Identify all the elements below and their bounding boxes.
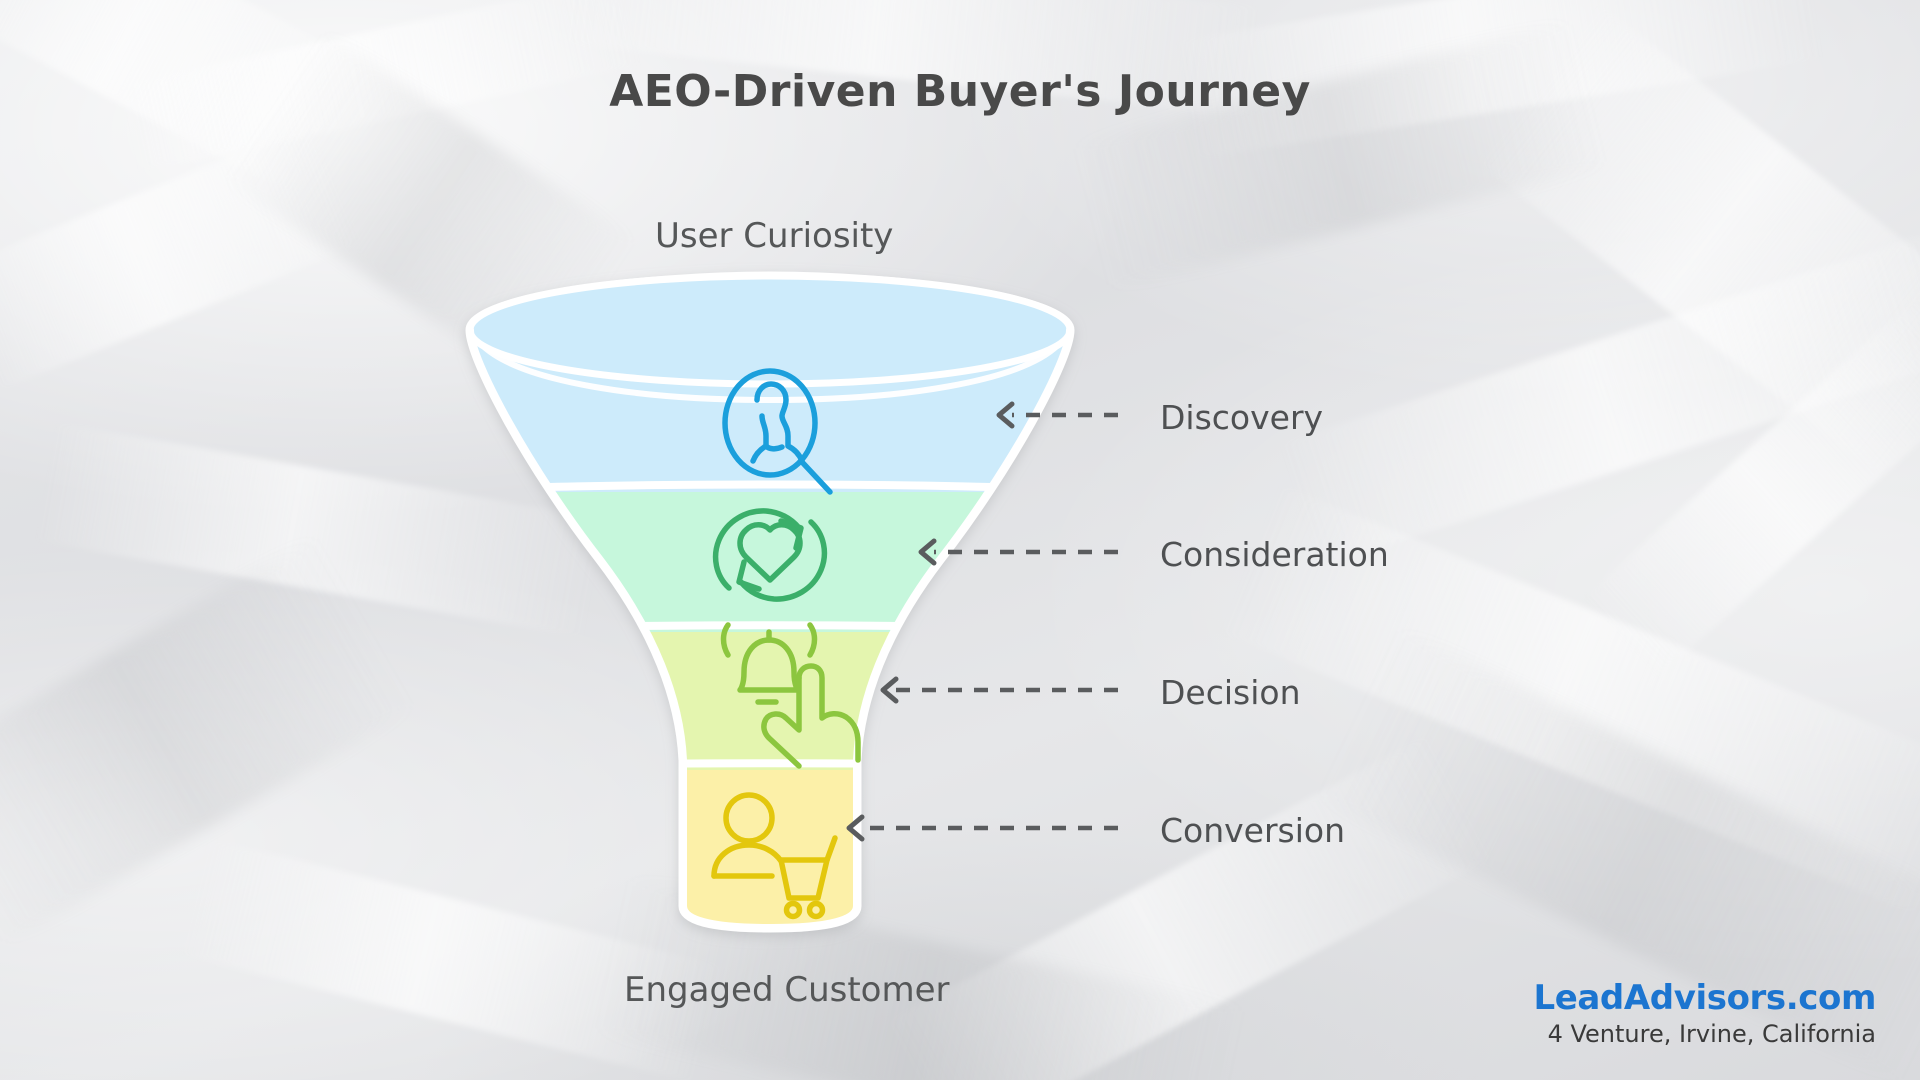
funnel-diagram	[0, 0, 1920, 1080]
brand-address: 4 Venture, Irvine, California	[1533, 1019, 1876, 1050]
stage-label-conversion: Conversion	[1160, 811, 1345, 850]
infographic-canvas: AEO-Driven Buyer's Journey User Curiosit…	[0, 0, 1920, 1080]
funnel-rim-ellipse	[470, 276, 1070, 384]
stage-label-consideration: Consideration	[1160, 535, 1389, 574]
arrow-decision	[883, 679, 1118, 701]
stage-label-discovery: Discovery	[1160, 398, 1323, 437]
brand-block: LeadAdvisors.com 4 Venture, Irvine, Cali…	[1533, 979, 1876, 1050]
brand-name[interactable]: LeadAdvisors.com	[1533, 979, 1876, 1017]
arrow-conversion	[849, 817, 1118, 839]
funnel-band-conversion	[440, 770, 1100, 940]
stage-label-decision: Decision	[1160, 673, 1301, 712]
